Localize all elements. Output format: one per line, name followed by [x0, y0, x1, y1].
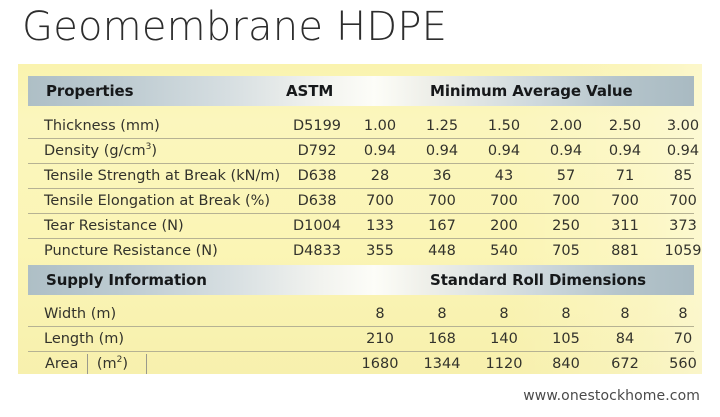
row-value: 700 — [414, 193, 470, 209]
row-astm: D4833 — [286, 243, 348, 259]
row-label-tail: ) — [151, 143, 157, 159]
row-value: 2.00 — [538, 118, 594, 134]
header-minimum-average-value-label: Minimum Average Value — [430, 82, 633, 100]
row-value: 1.00 — [352, 118, 408, 134]
row-value: 1059 — [655, 243, 711, 259]
row-value: 3.00 — [655, 118, 711, 134]
table-row: Tensile Elongation at Break (%) D638 700… — [28, 188, 694, 213]
row-value: 448 — [414, 243, 470, 259]
table-row: Width (m) 8 8 8 8 8 8 — [28, 302, 694, 326]
row-astm: D5199 — [286, 118, 348, 134]
row-value: 140 — [476, 331, 532, 347]
row-value: 700 — [655, 193, 711, 209]
row-astm: D638 — [286, 168, 348, 184]
row-value: 36 — [414, 168, 470, 184]
row-value: 0.94 — [538, 143, 594, 159]
row-value: 0.94 — [414, 143, 470, 159]
row-value: 540 — [476, 243, 532, 259]
row-value: 1.50 — [476, 118, 532, 134]
row-astm: D1004 — [286, 218, 348, 234]
row-value: 167 — [414, 218, 470, 234]
row-value: 373 — [655, 218, 711, 234]
row-value: 133 — [352, 218, 408, 234]
page-title: Geomembrane HDPE — [22, 4, 447, 50]
row-label: Puncture Resistance (N) — [44, 243, 218, 259]
row-label: Length (m) — [44, 331, 124, 347]
header-properties-label: Properties — [46, 82, 133, 100]
table-row: Tear Resistance (N) D1004 133 167 200 25… — [28, 213, 694, 238]
row-value: 8 — [352, 306, 408, 322]
row-value: 8 — [476, 306, 532, 322]
row-label: Tear Resistance (N) — [44, 218, 184, 234]
supply-information-header-band: Supply Information Standard Roll Dimensi… — [28, 265, 694, 295]
row-value: 840 — [538, 356, 594, 372]
row-value: 0.94 — [597, 143, 653, 159]
row-value: 8 — [538, 306, 594, 322]
table-row: Area (m2) 1680 1344 1120 840 672 560 — [28, 351, 694, 376]
row-value: 105 — [538, 331, 594, 347]
row-value: 250 — [538, 218, 594, 234]
row-value: 168 — [414, 331, 470, 347]
row-value: 560 — [655, 356, 711, 372]
row-value: 672 — [597, 356, 653, 372]
row-value: 881 — [597, 243, 653, 259]
row-value: 8 — [597, 306, 653, 322]
header-supply-information-label: Supply Information — [46, 271, 207, 289]
properties-rows: Thickness (mm) D5199 1.00 1.25 1.50 2.00… — [28, 114, 694, 263]
row-value: 70 — [655, 331, 711, 347]
row-value: 0.94 — [352, 143, 408, 159]
scan-artifact-divider — [87, 354, 88, 374]
row-label: Width (m) — [44, 306, 116, 322]
table-row: Length (m) 210 168 140 105 84 70 — [28, 326, 694, 351]
row-value: 43 — [476, 168, 532, 184]
row-value: 700 — [597, 193, 653, 209]
row-value: 355 — [352, 243, 408, 259]
row-label-unit-post: ) — [122, 356, 128, 372]
row-value: 210 — [352, 331, 408, 347]
row-value: 1344 — [414, 356, 470, 372]
row-value: 200 — [476, 218, 532, 234]
row-value: 700 — [476, 193, 532, 209]
scan-artifact-divider — [146, 354, 147, 374]
table-row: Tensile Strength at Break (kN/m) D638 28… — [28, 163, 694, 188]
row-value: 8 — [655, 306, 711, 322]
table-row: Density (g/cm3) D792 0.94 0.94 0.94 0.94… — [28, 138, 694, 163]
row-label: Density (g/cm3) — [44, 143, 157, 159]
row-value: 700 — [352, 193, 408, 209]
row-value: 2.50 — [597, 118, 653, 134]
table-row: Thickness (mm) D5199 1.00 1.25 1.50 2.00… — [28, 114, 694, 138]
row-label: Thickness (mm) — [44, 118, 160, 134]
row-label-text: Density (g/cm — [44, 143, 146, 159]
row-value: 1680 — [352, 356, 408, 372]
row-value: 57 — [538, 168, 594, 184]
table-row: Puncture Resistance (N) D4833 355 448 54… — [28, 238, 694, 263]
row-value: 705 — [538, 243, 594, 259]
row-value: 28 — [352, 168, 408, 184]
properties-header-band: Properties ASTM Minimum Average Value — [28, 76, 694, 106]
row-value: 0.94 — [655, 143, 711, 159]
row-value: 1.25 — [414, 118, 470, 134]
header-astm-label: ASTM — [286, 82, 333, 100]
supply-rows: Width (m) 8 8 8 8 8 8 Length (m) 210 168… — [28, 302, 694, 376]
row-label-text: Area — [45, 356, 78, 372]
row-value: 700 — [538, 193, 594, 209]
row-value: 71 — [597, 168, 653, 184]
spec-table-panel: Properties ASTM Minimum Average Value Th… — [18, 64, 702, 374]
header-standard-roll-dimensions-label: Standard Roll Dimensions — [430, 271, 646, 289]
row-value: 1120 — [476, 356, 532, 372]
row-value: 0.94 — [476, 143, 532, 159]
row-value: 84 — [597, 331, 653, 347]
row-label: Tensile Elongation at Break (%) — [44, 193, 270, 209]
row-value: 8 — [414, 306, 470, 322]
row-label: Tensile Strength at Break (kN/m) — [44, 168, 280, 184]
row-astm: D792 — [286, 143, 348, 159]
footer-website-url: www.onestockhome.com — [523, 388, 700, 404]
row-value: 85 — [655, 168, 711, 184]
row-astm: D638 — [286, 193, 348, 209]
row-label-unit-pre: (m — [97, 356, 117, 372]
row-value: 311 — [597, 218, 653, 234]
